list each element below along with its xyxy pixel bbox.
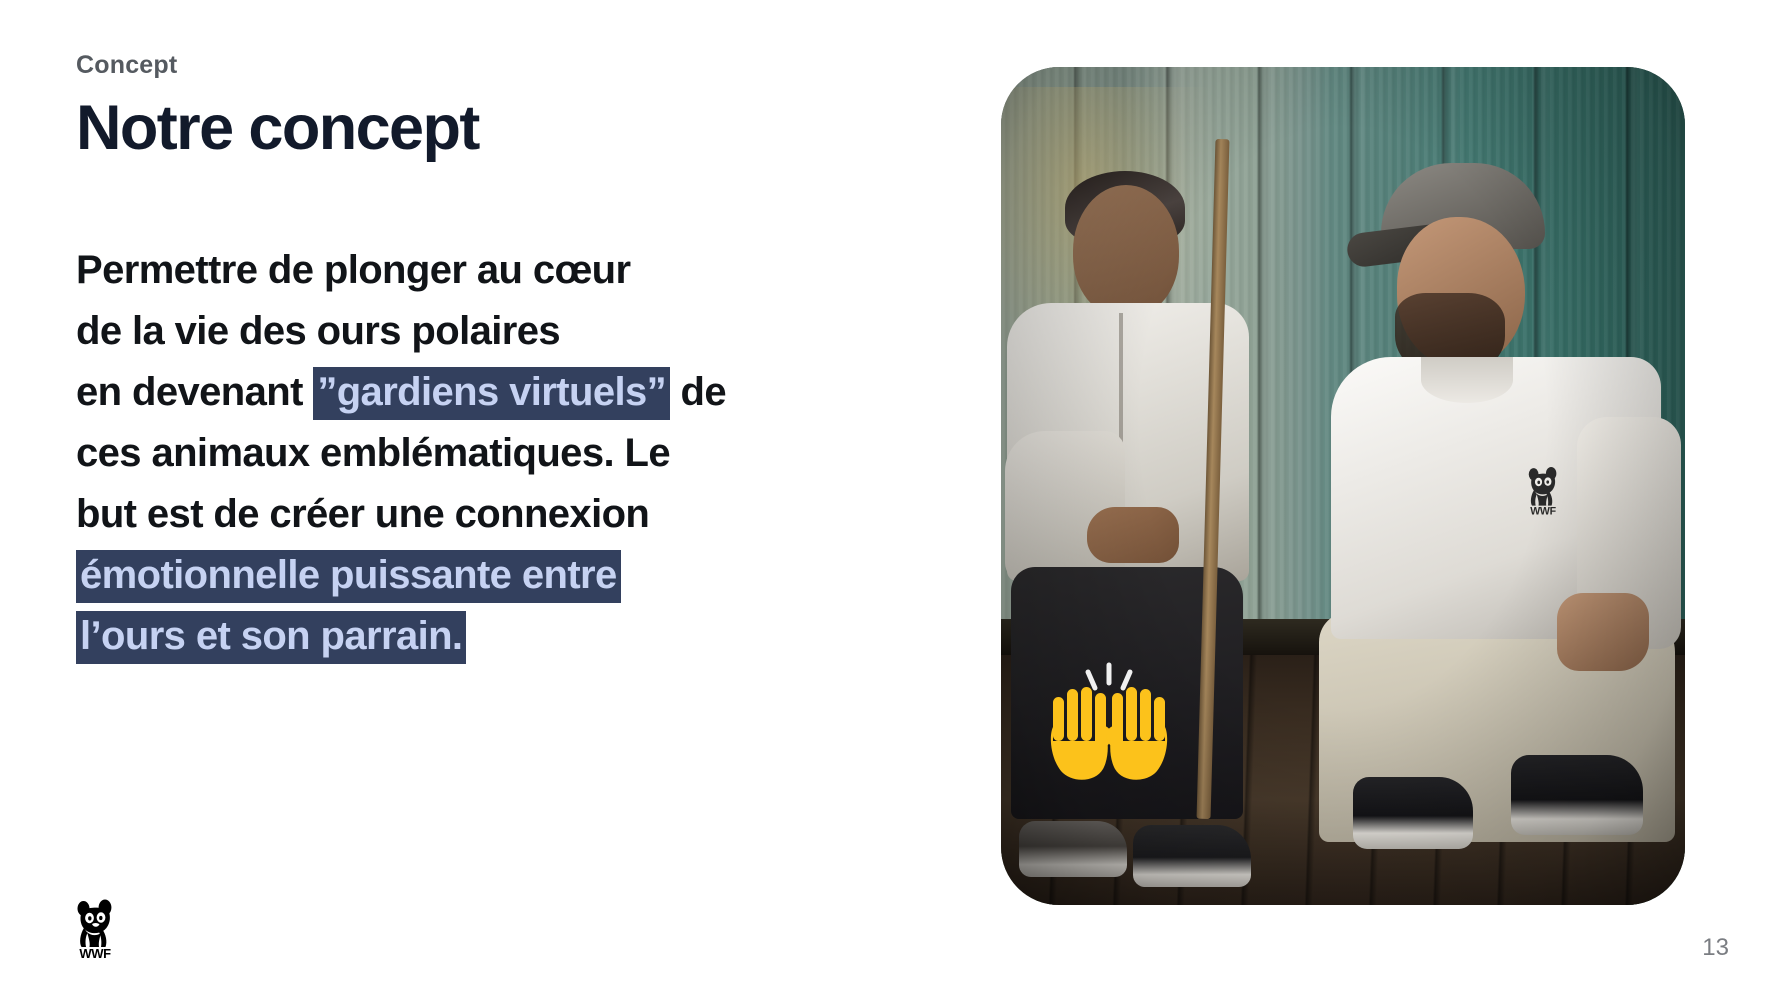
- photo-staffer-shoe-right: [1511, 755, 1643, 835]
- body-text: ces animaux emblématiques. Le: [76, 431, 670, 475]
- body-text: but est de créer une connexion: [76, 492, 649, 536]
- slide-canvas: Concept Notre concept Permettre de plong…: [0, 0, 1777, 1000]
- body-line: de la vie des ours polaires: [76, 301, 866, 362]
- svg-text:WWF: WWF: [1530, 506, 1556, 517]
- photo-elder-hand: [1087, 507, 1179, 563]
- left-content-column: Concept Notre concept Permettre de plong…: [76, 52, 906, 667]
- svg-text:WWF: WWF: [79, 946, 111, 960]
- highlighted-text: ”gardiens virtuels”: [313, 367, 670, 420]
- wwf-panda-logo: WWF: [68, 898, 122, 960]
- body-paragraph: Permettre de plonger au cœurde la vie de…: [76, 240, 866, 667]
- raising-hands-emoji: [1041, 661, 1177, 787]
- photo-staffer-collar: [1421, 357, 1513, 403]
- photo-elder-head: [1073, 185, 1179, 317]
- body-line: Permettre de plonger au cœur: [76, 240, 866, 301]
- page-title: Notre concept: [76, 94, 906, 162]
- photo-staffer-shoe-left: [1353, 777, 1473, 849]
- photo-tshirt-wwf-logo: WWF: [1521, 465, 1565, 517]
- section-eyebrow: Concept: [76, 52, 906, 80]
- body-line: émotionnelle puissante entre: [76, 545, 866, 606]
- photo-elder-shoe-right: [1133, 825, 1251, 887]
- body-line: but est de créer une connexion: [76, 484, 866, 545]
- page-number: 13: [1702, 934, 1729, 962]
- highlighted-text: l’ours et son parrain.: [76, 611, 466, 664]
- body-line: en devenant ”gardiens virtuels” de: [76, 362, 866, 423]
- body-line: ces animaux emblématiques. Le: [76, 423, 866, 484]
- body-text: de: [670, 370, 726, 414]
- highlighted-text: émotionnelle puissante entre: [76, 550, 621, 603]
- body-line: l’ours et son parrain.: [76, 606, 866, 667]
- body-text: en devenant: [76, 370, 313, 414]
- concept-photo: WWF: [1001, 67, 1685, 905]
- body-text: de la vie des ours polaires: [76, 309, 560, 353]
- photo-elder-shoe-left: [1019, 821, 1127, 877]
- body-text: Permettre de plonger au cœur: [76, 248, 630, 292]
- photo-staffer-hand: [1557, 593, 1649, 671]
